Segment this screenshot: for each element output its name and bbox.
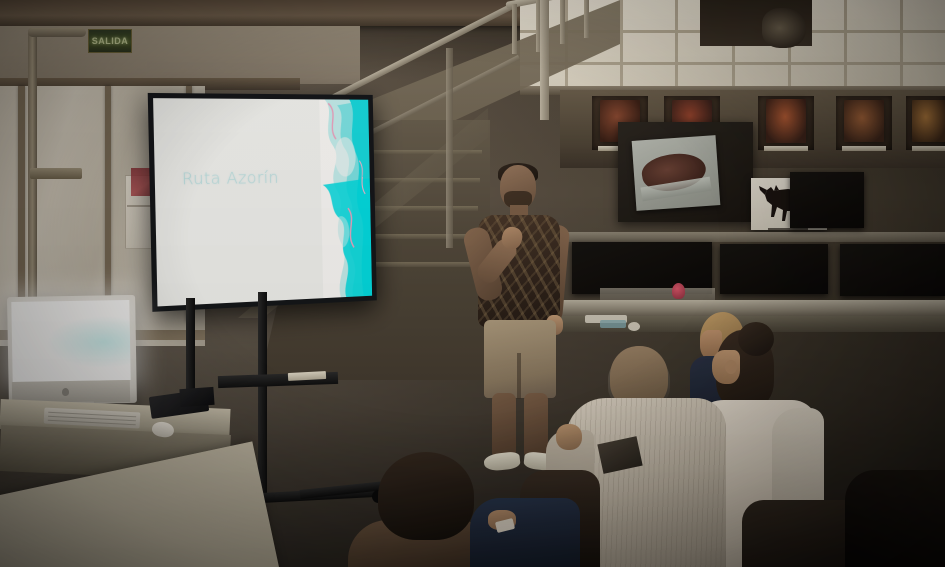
upper-shelf — [560, 232, 945, 242]
audience-person-dark-lower — [742, 500, 862, 567]
artwork-5 — [912, 100, 945, 142]
framed-photo-dark-object — [632, 135, 721, 211]
window-shadow-form — [762, 8, 806, 48]
desk-blue-item — [600, 320, 626, 328]
dark-monitor-3 — [840, 244, 945, 296]
presenter-right-leg — [524, 393, 548, 459]
rail-baluster — [512, 4, 517, 54]
presenter-left-sneaker — [483, 451, 521, 472]
presentation-room-photo: SALIDA Ruta Azorín — [0, 0, 945, 567]
audience-person-dark-hair-front — [378, 452, 474, 540]
rail-baluster — [584, 0, 589, 38]
presenter-shorts-seam — [517, 353, 521, 399]
desk-round-item — [628, 322, 640, 331]
audience-man-hand — [556, 424, 582, 450]
audience-person-blue-top — [470, 498, 580, 567]
wall-pipe-bracket — [30, 168, 82, 179]
tv-screen-surface[interactable]: Ruta Azorín — [153, 98, 372, 306]
dark-monitor-1 — [572, 242, 712, 294]
pink-desk-object — [672, 283, 685, 299]
audience-hair-bun — [738, 322, 774, 356]
audience-silhouette-right — [845, 470, 945, 567]
wall-mounted-flat-screen[interactable]: Ruta Azorín — [148, 93, 377, 312]
window-mullion-v3 — [675, 0, 678, 92]
artwork-label-4 — [842, 146, 886, 151]
apple-logo-icon — [62, 388, 69, 396]
imac-screen[interactable] — [11, 300, 130, 382]
rail-baluster — [560, 0, 565, 44]
dark-monitor-4 — [790, 172, 864, 228]
wall-pipe-horizontal — [28, 28, 86, 37]
slide-title: Ruta Azorín — [182, 168, 279, 189]
exit-sign-label: SALIDA — [92, 36, 129, 46]
artwork-4 — [844, 100, 884, 142]
window-mullion-v6 — [844, 0, 847, 92]
tv-cart-pole-right — [258, 292, 267, 498]
long-counter-desk — [560, 300, 945, 316]
stair-newel-post — [540, 0, 549, 120]
window-mullion-v7 — [900, 0, 903, 92]
artwork-label-5 — [912, 146, 945, 151]
audience-person-shoulder — [772, 408, 824, 508]
stair-support-post — [446, 48, 453, 248]
exit-sign: SALIDA — [88, 29, 132, 53]
wall-pipe-bend — [28, 28, 37, 98]
artwork-label-3 — [764, 146, 808, 151]
presenter-left-leg — [492, 393, 516, 459]
window-mullion-v2 — [620, 0, 623, 92]
audience-person-ear — [725, 360, 737, 374]
artwork-3 — [766, 99, 806, 143]
dark-desk-device-2 — [179, 387, 214, 407]
dark-monitor-2 — [720, 244, 828, 294]
cyan-marble-graphic — [319, 99, 372, 298]
